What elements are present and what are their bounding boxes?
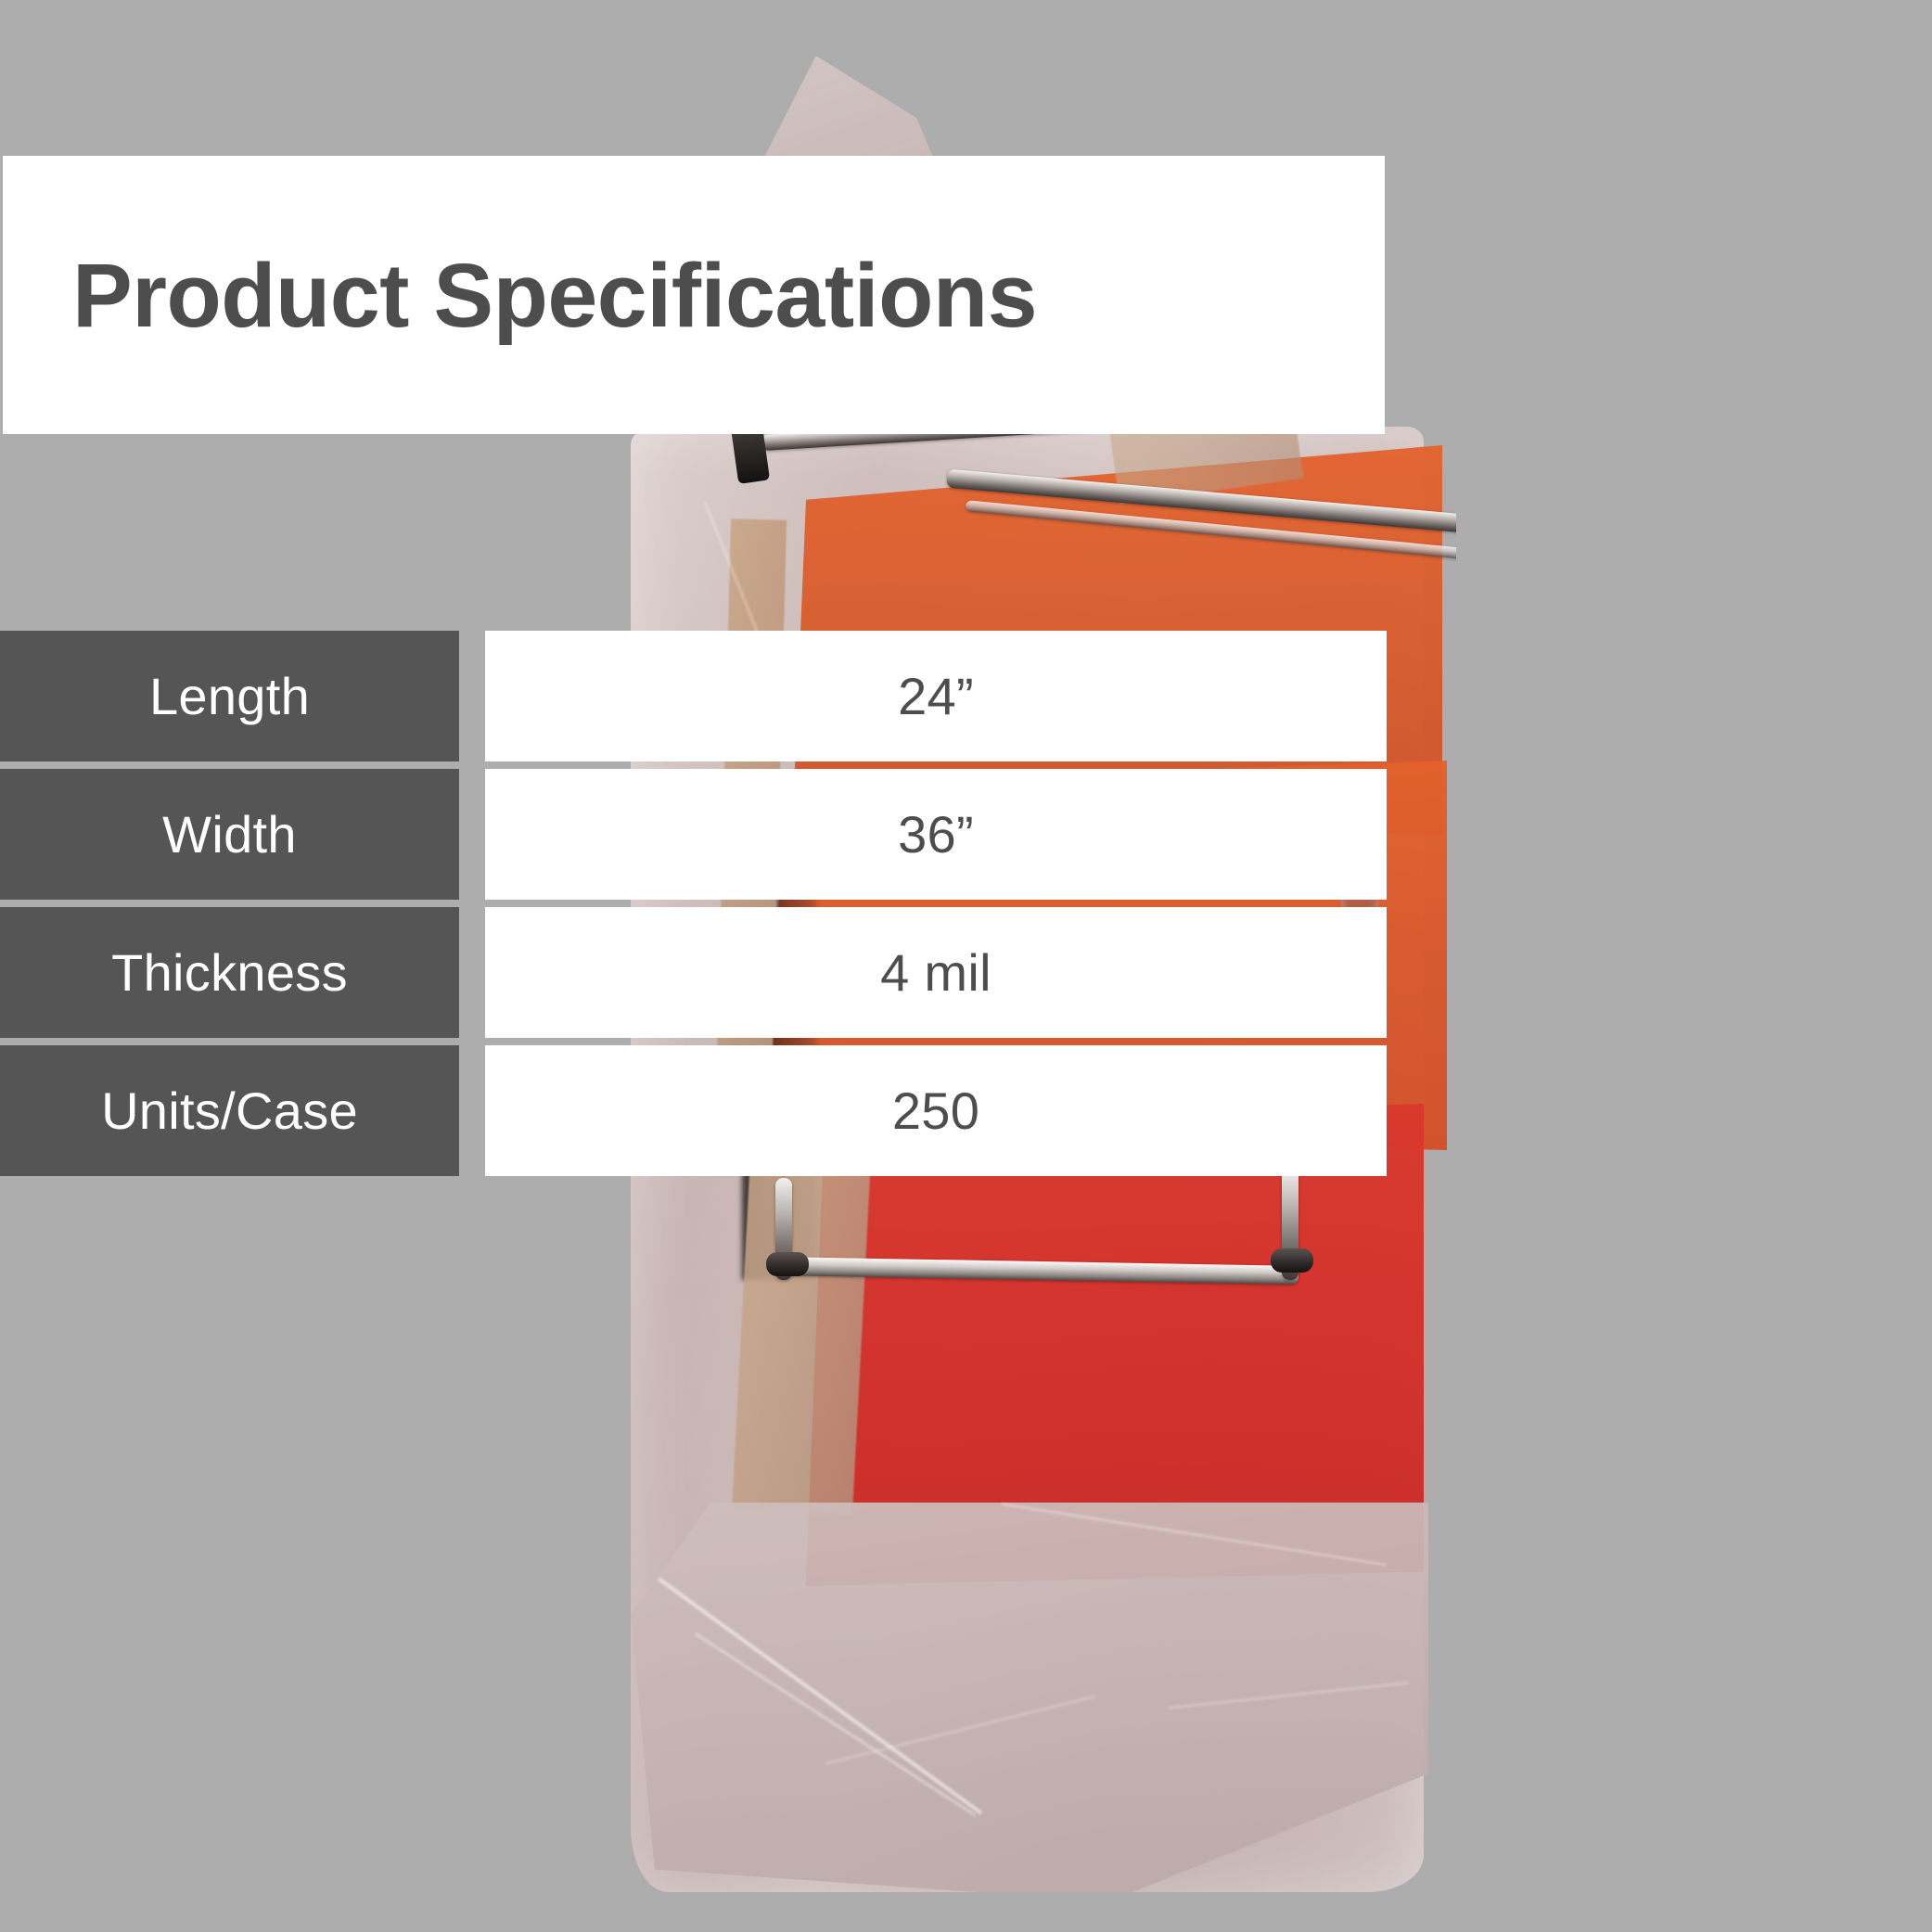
spec-value-text: 36”: [898, 809, 974, 861]
title-banner: Product Specifications: [3, 156, 1385, 434]
spec-value-text: 4 mil: [880, 947, 992, 999]
spec-label-thickness: Thickness: [0, 907, 459, 1038]
poster-canvas: Product Specifications Length 24” Width …: [0, 0, 1932, 1932]
spec-label-length: Length: [0, 631, 459, 761]
frame-foot-left: [766, 1252, 809, 1276]
spec-label-units-per-case: Units/Case: [0, 1045, 459, 1176]
spec-value-thickness: 4 mil: [485, 907, 1387, 1038]
spec-value-length: 24”: [485, 631, 1387, 761]
table-row: Length 24”: [0, 631, 1932, 761]
spec-label-text: Units/Case: [101, 1085, 358, 1137]
spec-value-text: 250: [892, 1085, 979, 1137]
spec-table: Length 24” Width 36” Thickness 4 mil: [0, 631, 1932, 1184]
spec-label-text: Width: [162, 809, 297, 861]
spec-label-text: Thickness: [111, 947, 348, 999]
spec-label-text: Length: [149, 671, 310, 723]
page-title: Product Specifications: [72, 250, 1037, 340]
table-row: Width 36”: [0, 769, 1932, 900]
spec-value-units-per-case: 250: [485, 1045, 1387, 1176]
table-row: Thickness 4 mil: [0, 907, 1932, 1038]
table-row: Units/Case 250: [0, 1045, 1932, 1176]
spec-value-text: 24”: [898, 671, 974, 723]
spec-value-width: 36”: [485, 769, 1387, 900]
frame-foot-right: [1271, 1248, 1313, 1273]
spec-label-width: Width: [0, 769, 459, 900]
